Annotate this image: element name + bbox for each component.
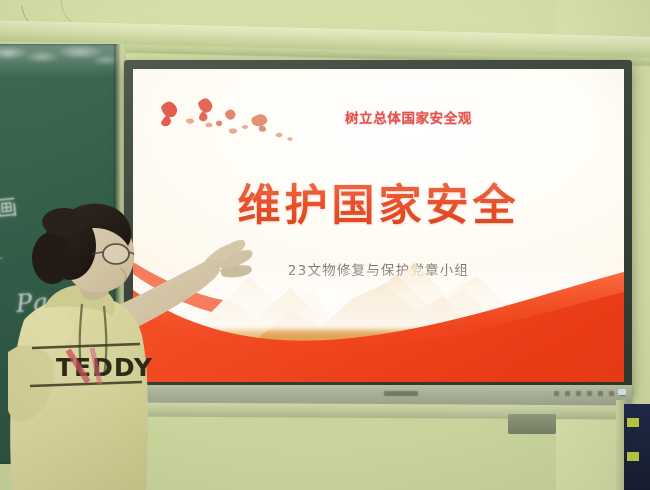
right-side-object [624, 404, 650, 490]
display-brand-logo [384, 391, 418, 396]
display-port-row [554, 391, 628, 396]
side-object-mark-1 [627, 418, 639, 427]
side-object-mark-2 [627, 452, 639, 461]
slide-eyebrow-text: 树立总体国家安全观 [133, 107, 624, 127]
display-indicator-light [618, 389, 626, 395]
display-mount-block [508, 414, 556, 434]
chalk-dust-smear [0, 44, 122, 84]
classroom-presentation-scene: 画 ~ Pg [0, 0, 650, 490]
student-presenter: TEDDY [8, 200, 298, 490]
chalk-writing-3: ~ [0, 248, 6, 268]
